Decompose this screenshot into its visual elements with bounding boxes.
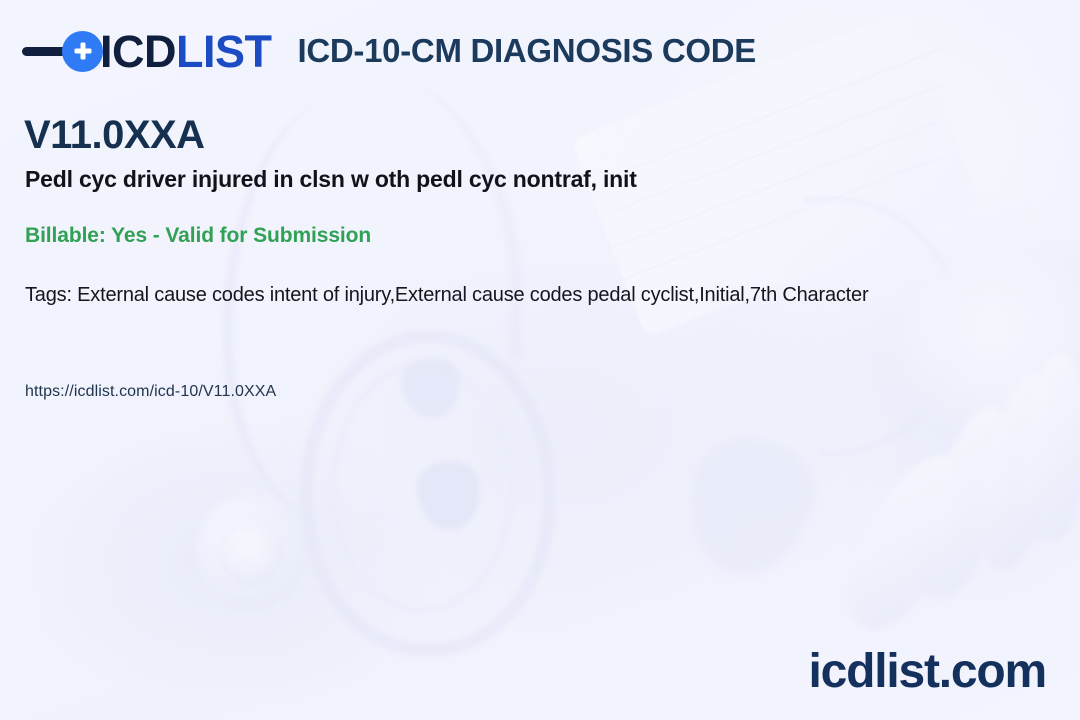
logo-wordmark: ICDLIST xyxy=(100,29,272,74)
source-url[interactable]: https://icdlist.com/icd-10/V11.0XXA xyxy=(25,383,276,401)
diagnosis-code-card: ICDLIST ICD-10-CM DIAGNOSIS CODE V11.0XX… xyxy=(0,0,1080,720)
diagnosis-description: Pedl cyc driver injured in clsn w oth pe… xyxy=(25,166,637,193)
plus-badge-icon xyxy=(62,31,103,72)
card-header: ICDLIST ICD-10-CM DIAGNOSIS CODE xyxy=(0,22,1080,80)
site-watermark: icdlist.com xyxy=(808,648,1046,696)
card-content: ICDLIST ICD-10-CM DIAGNOSIS CODE V11.0XX… xyxy=(0,0,1080,720)
billable-status: Billable: Yes - Valid for Submission xyxy=(25,224,371,248)
tags-line: Tags: External cause codes intent of inj… xyxy=(25,284,1080,307)
logo-text-list: LIST xyxy=(176,26,272,77)
diagnosis-code: V11.0XXA xyxy=(24,113,205,157)
page-title: ICD-10-CM DIAGNOSIS CODE xyxy=(298,32,757,70)
icdlist-logo[interactable]: ICDLIST xyxy=(22,29,272,74)
logo-text-icd: ICD xyxy=(100,26,176,77)
